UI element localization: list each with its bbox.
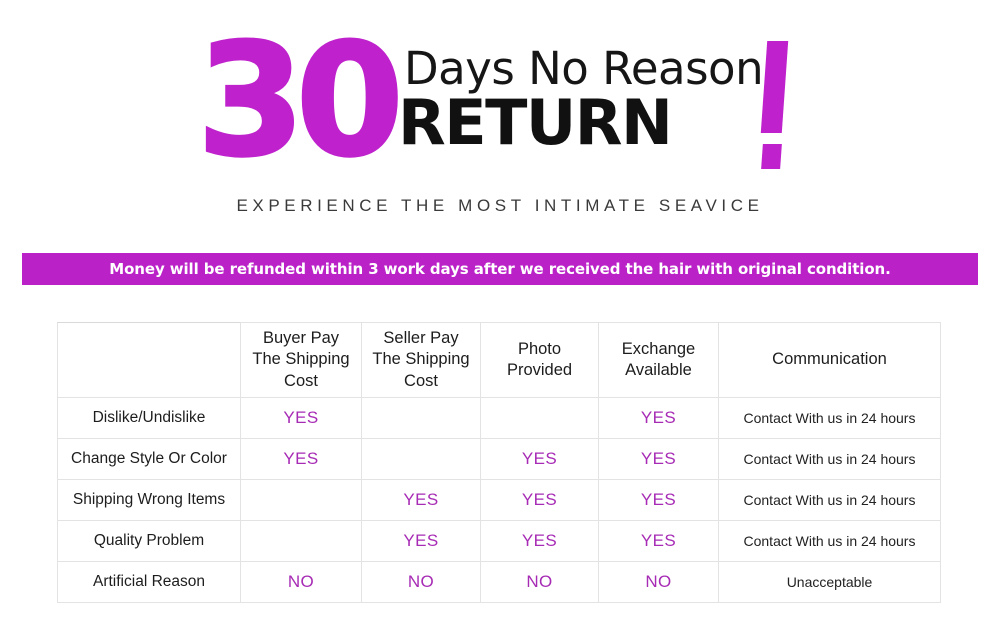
header-line: Cost	[362, 371, 480, 392]
exclamation-dot	[761, 144, 782, 169]
header-line: Seller Pay	[362, 328, 480, 349]
header-line: Photo	[481, 339, 598, 360]
header-line: Buyer Pay	[241, 328, 361, 349]
header-line: Cost	[241, 371, 361, 392]
cell-reason: Shipping Wrong Items	[58, 480, 241, 521]
table-header-cell-photo-provided: Photo Provided	[481, 323, 599, 398]
hero-headline-line2: RETURN	[398, 92, 671, 154]
cell-communication: Contact With us in 24 hours	[719, 480, 941, 521]
cell-exchange-available: YES	[599, 480, 719, 521]
cell-photo-provided: YES	[481, 480, 599, 521]
cell-seller-pay-shipping: NO	[362, 562, 481, 603]
table-row: Shipping Wrong Items YES YES YES Contact…	[58, 480, 941, 521]
hero-tagline: EXPERIENCE THE MOST INTIMATE SEAVICE	[0, 196, 1000, 216]
return-policy-table: Buyer Pay The Shipping Cost Seller Pay T…	[57, 322, 941, 603]
header-line: Provided	[481, 360, 598, 381]
cell-buyer-pay-shipping: YES	[241, 439, 362, 480]
cell-seller-pay-shipping: YES	[362, 480, 481, 521]
cell-seller-pay-shipping	[362, 439, 481, 480]
table-header-row: Buyer Pay The Shipping Cost Seller Pay T…	[58, 323, 941, 398]
table-row: Change Style Or Color YES YES YES Contac…	[58, 439, 941, 480]
cell-reason: Quality Problem	[58, 521, 241, 562]
header-line: Available	[599, 360, 718, 381]
cell-exchange-available: YES	[599, 521, 719, 562]
cell-exchange-available: YES	[599, 398, 719, 439]
hero-graphic: 30 Days No Reason RETURN EXPERIENCE THE …	[0, 0, 1000, 232]
table-row: Artificial Reason NO NO NO NO Unacceptab…	[58, 562, 941, 603]
cell-buyer-pay-shipping	[241, 521, 362, 562]
table-body: Dislike/Undislike YES YES Contact With u…	[58, 398, 941, 603]
table-row: Dislike/Undislike YES YES Contact With u…	[58, 398, 941, 439]
cell-exchange-available: YES	[599, 439, 719, 480]
cell-reason: Dislike/Undislike	[58, 398, 241, 439]
table-header-cell-exchange-available: Exchange Available	[599, 323, 719, 398]
cell-seller-pay-shipping	[362, 398, 481, 439]
table-header-cell-buyer-pay-shipping: Buyer Pay The Shipping Cost	[241, 323, 362, 398]
cell-communication: Unacceptable	[719, 562, 941, 603]
hero-headline-line1: Days No Reason	[404, 46, 763, 91]
cell-communication: Contact With us in 24 hours	[719, 521, 941, 562]
header-line: The Shipping	[241, 349, 361, 370]
exclamation-bar	[761, 41, 788, 133]
table-row: Quality Problem YES YES YES Contact With…	[58, 521, 941, 562]
table-header: Buyer Pay The Shipping Cost Seller Pay T…	[58, 323, 941, 398]
hero-section: 30 Days No Reason RETURN EXPERIENCE THE …	[0, 0, 1000, 232]
table-header-cell-communication: Communication	[719, 323, 941, 398]
cell-photo-provided	[481, 398, 599, 439]
cell-photo-provided: NO	[481, 562, 599, 603]
cell-photo-provided: YES	[481, 521, 599, 562]
exclamation-mark-icon	[762, 41, 786, 172]
header-line: Exchange	[599, 339, 718, 360]
return-policy-table-wrapper: Buyer Pay The Shipping Cost Seller Pay T…	[57, 322, 940, 603]
cell-exchange-available: NO	[599, 562, 719, 603]
cell-reason: Artificial Reason	[58, 562, 241, 603]
header-line: The Shipping	[362, 349, 480, 370]
table-header-cell-reason	[58, 323, 241, 398]
cell-communication: Contact With us in 24 hours	[719, 439, 941, 480]
cell-buyer-pay-shipping	[241, 480, 362, 521]
cell-buyer-pay-shipping: NO	[241, 562, 362, 603]
cell-seller-pay-shipping: YES	[362, 521, 481, 562]
cell-buyer-pay-shipping: YES	[241, 398, 362, 439]
table-header-cell-seller-pay-shipping: Seller Pay The Shipping Cost	[362, 323, 481, 398]
header-line: Communication	[719, 349, 940, 370]
refund-policy-banner-text: Money will be refunded within 3 work day…	[109, 260, 890, 278]
hero-number: 30	[197, 23, 395, 178]
cell-reason: Change Style Or Color	[58, 439, 241, 480]
cell-communication: Contact With us in 24 hours	[719, 398, 941, 439]
refund-policy-banner: Money will be refunded within 3 work day…	[22, 253, 978, 285]
cell-photo-provided: YES	[481, 439, 599, 480]
